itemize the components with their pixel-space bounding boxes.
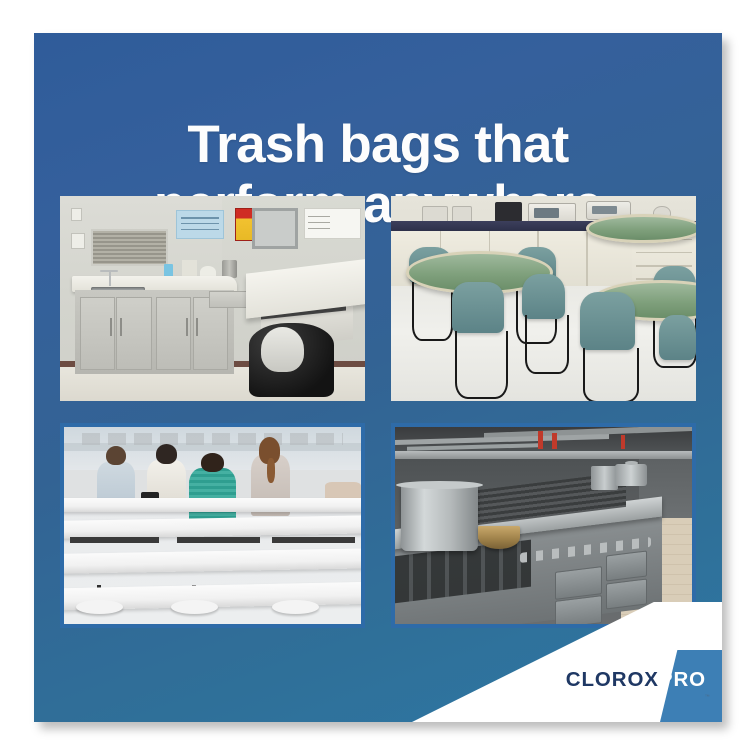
trademark-symbol: ™ (705, 694, 710, 700)
photo-school-cafeteria (60, 423, 365, 628)
photo-office-break-room (391, 196, 696, 401)
headline-line-1: Trash bags that (187, 115, 568, 174)
logo-clorox-text: CLOROX (566, 668, 659, 691)
school-cafeteria-illustration (64, 427, 361, 624)
commercial-kitchen-illustration (395, 427, 692, 624)
clinic-exam-room-illustration (60, 196, 365, 401)
office-break-room-illustration (391, 196, 696, 401)
photo-clinic-exam-room (60, 196, 365, 401)
brand-logo: CLOROXPRO ™ (412, 602, 722, 722)
poster-canvas: Trash bags that perform anywhere (0, 0, 750, 750)
logo-pro-text: PRO (659, 668, 706, 691)
logo-wordmark: CLOROXPRO (566, 670, 706, 691)
poster-panel: Trash bags that perform anywhere (34, 33, 722, 722)
photo-grid (60, 196, 696, 636)
photo-commercial-kitchen (391, 423, 696, 628)
